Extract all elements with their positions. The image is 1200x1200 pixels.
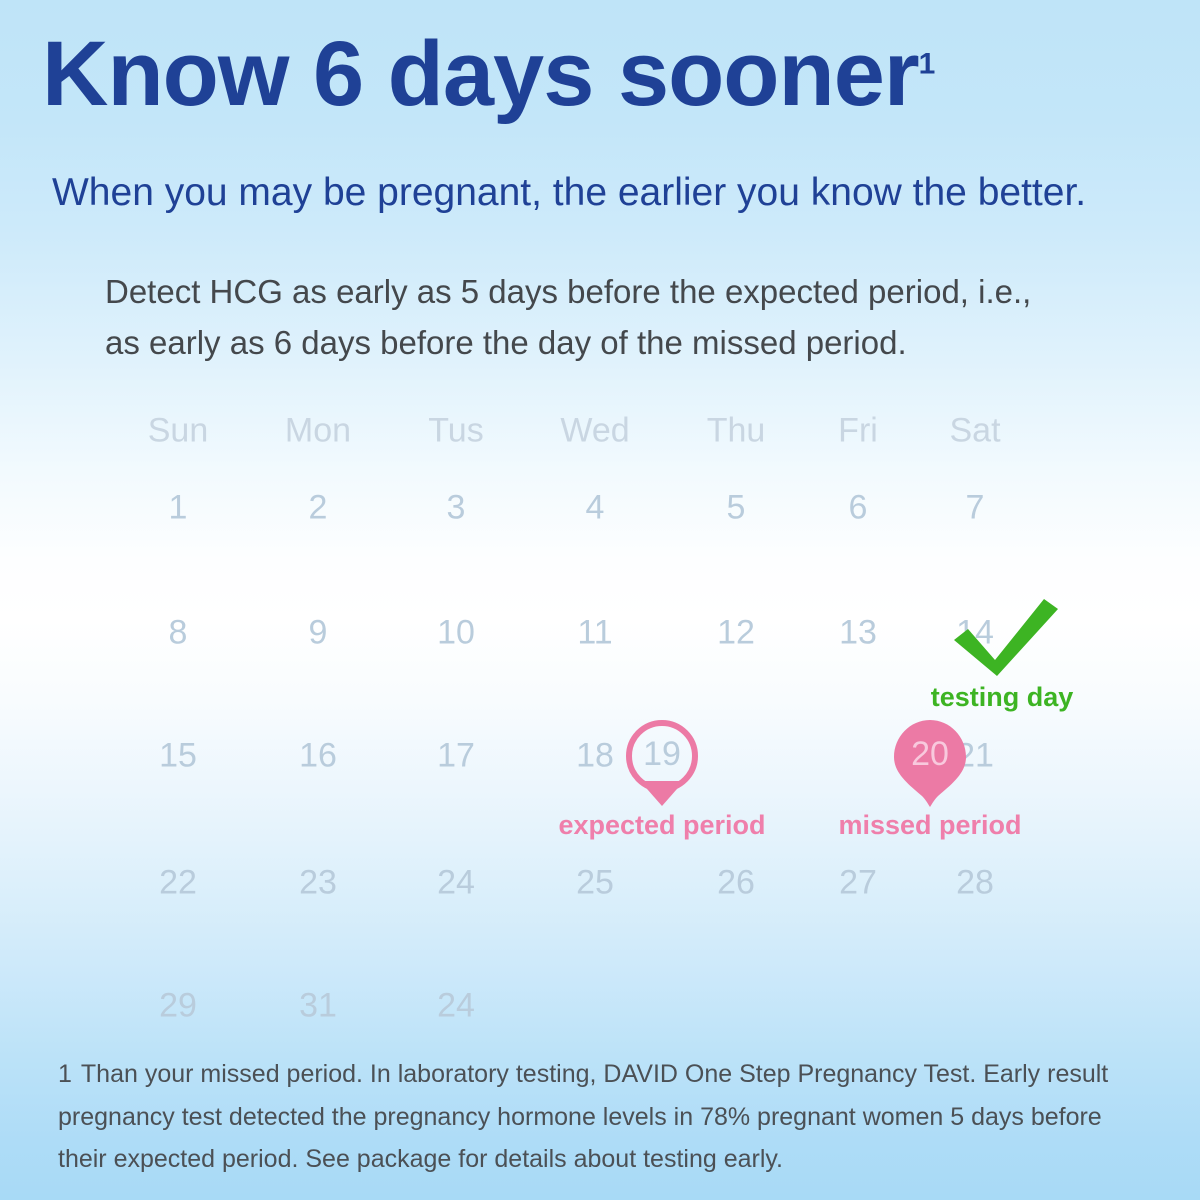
page-title-text: Know 6 days sooner (42, 23, 919, 125)
missed-period-label: missed period (800, 810, 1060, 841)
calendar-day[interactable]: 5 (727, 489, 746, 528)
calendar-day[interactable]: 28 (956, 864, 994, 903)
calendar-day[interactable]: 31 (299, 987, 337, 1026)
calendar-day[interactable]: 15 (159, 737, 197, 776)
body-copy-line-1: Detect HCG as early as 5 days before the… (105, 266, 1031, 317)
calendar-day[interactable]: 4 (586, 489, 605, 528)
calendar-day[interactable]: 24 (437, 987, 475, 1026)
calendar-day[interactable]: 22 (159, 864, 197, 903)
calendar-day[interactable]: 2 (309, 489, 328, 528)
calendar-day[interactable]: 26 (717, 864, 755, 903)
calendar-day[interactable]: 6 (849, 489, 868, 528)
green-check-icon (948, 596, 1064, 683)
page-title: Know 6 days sooner1 (42, 28, 934, 120)
calendar-dayname-sun: Sun (148, 412, 209, 451)
calendar-day[interactable]: 11 (577, 614, 612, 653)
calendar-day[interactable]: 27 (839, 864, 877, 903)
calendar-dayname-mon: Mon (285, 412, 351, 451)
testing-day-marker[interactable]: testing day (912, 596, 1092, 716)
calendar-day[interactable]: 8 (169, 614, 188, 653)
page-subtitle: When you may be pregnant, the earlier yo… (52, 172, 1086, 215)
testing-day-label: testing day (912, 682, 1092, 713)
calendar-day[interactable]: 17 (437, 737, 475, 776)
calendar-day[interactable]: 10 (437, 614, 475, 653)
calendar-day[interactable]: 16 (299, 737, 337, 776)
calendar-dayname-sat: Sat (949, 412, 1000, 451)
missed-period-day: 20 (911, 737, 949, 771)
calendar-day[interactable]: 1 (169, 489, 188, 528)
calendar-dayname-fri: Fri (838, 412, 878, 451)
calendar-day[interactable]: 12 (717, 614, 755, 653)
footnote: 1Than your missed period. In laboratory … (58, 1053, 1168, 1181)
calendar-day[interactable]: 13 (839, 614, 877, 653)
footnote-marker: 1 (58, 1060, 72, 1088)
calendar-day[interactable]: 3 (447, 489, 466, 528)
calendar-day[interactable]: 29 (159, 987, 197, 1026)
expected-period-day: 19 (643, 737, 681, 771)
footnote-line-1: 1Than your missed period. In laboratory … (58, 1053, 1168, 1096)
calendar-dayname-thu: Thu (707, 412, 766, 451)
calendar-day[interactable]: 25 (576, 864, 614, 903)
promo-infographic: Know 6 days sooner1 When you may be preg… (0, 0, 1200, 1200)
page-title-superscript: 1 (919, 47, 935, 80)
calendar-dayname-tus: Tus (428, 412, 483, 451)
footnote-line-2: pregnancy test detected the pregnancy ho… (58, 1096, 1168, 1139)
calendar-day[interactable]: 7 (966, 489, 985, 528)
expected-period-marker[interactable]: 19 expected period (532, 718, 792, 848)
footnote-line-3: their expected period. See package for d… (58, 1138, 1168, 1181)
calendar-dayname-wed: Wed (560, 412, 629, 451)
calendar-day[interactable]: 24 (437, 864, 475, 903)
body-copy-line-2: as early as 6 days before the day of the… (105, 317, 1031, 368)
expected-period-label: expected period (532, 810, 792, 841)
missed-period-marker[interactable]: 20 missed period (800, 718, 1060, 848)
calendar-day[interactable]: 9 (309, 614, 328, 653)
body-copy: Detect HCG as early as 5 days before the… (105, 266, 1031, 369)
calendar-day[interactable]: 23 (299, 864, 337, 903)
footnote-line-1-text: Than your missed period. In laboratory t… (81, 1060, 1108, 1088)
